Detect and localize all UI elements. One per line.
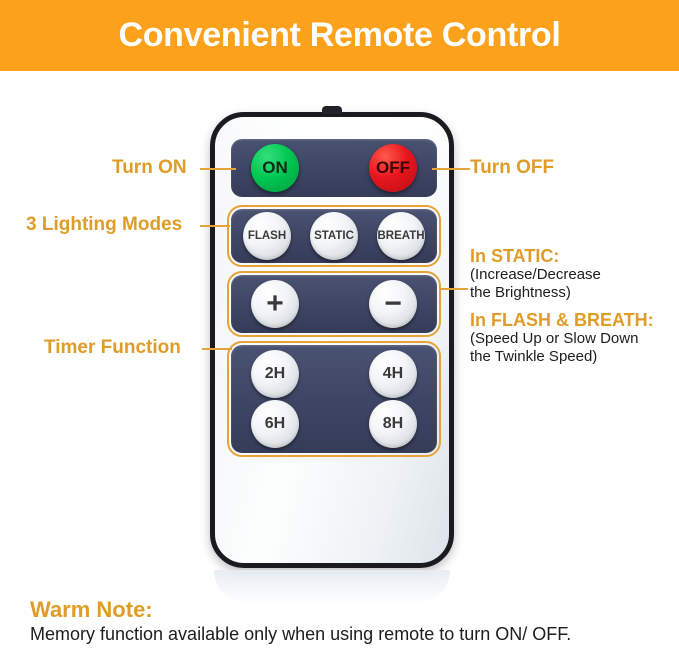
callout-static-title: In STATIC: <box>470 246 559 267</box>
minus-icon: − <box>384 289 402 319</box>
ir-emitter-icon <box>322 106 342 114</box>
callout-turn-on: Turn ON <box>112 157 187 179</box>
callout-turn-off: Turn OFF <box>470 157 554 179</box>
off-button[interactable]: OFF <box>369 144 417 192</box>
warm-note-body: Memory function available only when usin… <box>30 624 571 645</box>
leader-line-brightness <box>440 288 468 290</box>
brightness-speed-panel: + − <box>231 275 437 333</box>
lighting-modes-panel: FLASH STATIC BREATH <box>231 209 437 263</box>
plus-icon: + <box>266 289 284 319</box>
callout-lighting-modes: 3 Lighting Modes <box>26 214 182 236</box>
callout-timer-function: Timer Function <box>44 337 181 359</box>
timer-2h-button[interactable]: 2H <box>251 350 299 398</box>
warm-note-title: Warm Note: <box>30 597 153 623</box>
power-button-panel: ON OFF <box>231 139 437 197</box>
remote-reflection <box>214 570 450 604</box>
minus-button[interactable]: − <box>369 280 417 328</box>
page-title: Convenient Remote Control <box>118 16 560 55</box>
leader-line-lighting-modes <box>200 225 230 227</box>
remote-control-body: ON OFF FLASH STATIC BREATH + − 2H 4H 6H … <box>210 112 454 568</box>
breath-button[interactable]: BREATH <box>377 212 425 260</box>
static-button[interactable]: STATIC <box>310 212 358 260</box>
plus-button[interactable]: + <box>251 280 299 328</box>
timer-6h-button[interactable]: 6H <box>251 400 299 448</box>
leader-line-turn-off <box>432 168 470 170</box>
timer-4h-button[interactable]: 4H <box>369 350 417 398</box>
header-banner: Convenient Remote Control <box>0 0 679 71</box>
leader-line-turn-on <box>200 168 236 170</box>
callout-flash-breath-title: In FLASH & BREATH: <box>470 310 654 331</box>
flash-button[interactable]: FLASH <box>243 212 291 260</box>
on-button[interactable]: ON <box>251 144 299 192</box>
leader-line-timer-function <box>202 348 232 350</box>
callout-flash-breath-detail: (Speed Up or Slow Down the Twinkle Speed… <box>470 330 638 367</box>
timer-8h-button[interactable]: 8H <box>369 400 417 448</box>
callout-static-detail: (Increase/Decrease the Brightness) <box>470 266 601 303</box>
timer-panel: 2H 4H 6H 8H <box>231 345 437 453</box>
